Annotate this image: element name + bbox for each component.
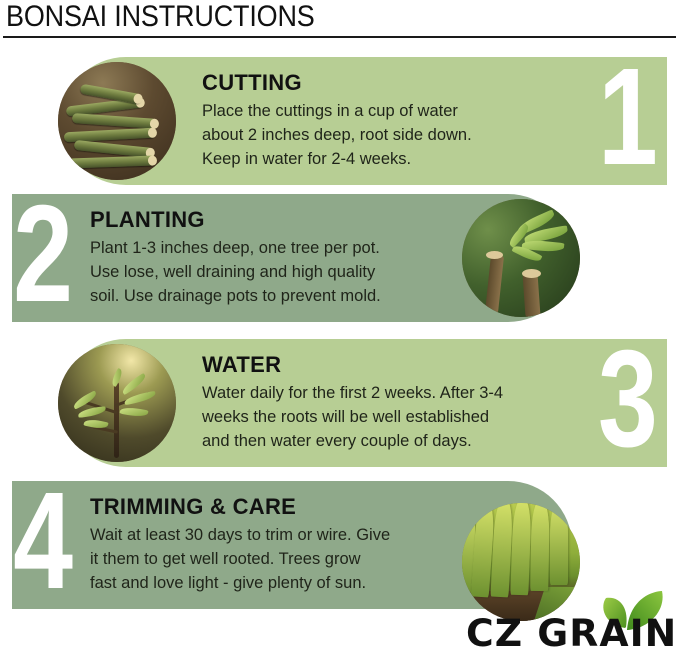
step-content-2: PLANTING Plant 1-3 inches deep, one tree… <box>90 206 510 308</box>
photo-image <box>58 344 176 462</box>
logo-text: CZ GRAIN <box>466 614 677 654</box>
header: BONSAI INSTRUCTIONS <box>0 0 679 44</box>
step-content-1: CUTTING Place the cuttings in a cup of w… <box>202 69 642 171</box>
step-body-4: Wait at least 30 days to trim or wire. G… <box>90 523 520 595</box>
step-panel-1: 1 CUTTING Place the cuttings in a cup of… <box>62 57 667 185</box>
step-number-4: 4 <box>8 477 78 605</box>
step-heading-1: CUTTING <box>202 69 642 97</box>
title-divider <box>3 36 676 38</box>
photo-image <box>58 62 176 180</box>
step-number-2: 2 <box>8 190 78 318</box>
step-heading-4: TRIMMING & CARE <box>90 493 520 521</box>
step-body-1: Place the cuttings in a cup of water abo… <box>202 99 642 171</box>
step-panel-4: 4 TRIMMING & CARE Wait at least 30 days … <box>12 481 572 609</box>
step-body-3: Water daily for the first 2 weeks. After… <box>202 381 652 453</box>
cuttings-bundle-photo <box>58 62 176 180</box>
step-panel-3: 3 WATER Water daily for the first 2 week… <box>62 339 667 467</box>
infographic-page: BONSAI INSTRUCTIONS 1 CUTTING Place the … <box>0 0 679 662</box>
step-panel-2: 2 PLANTING Plant 1-3 inches deep, one tr… <box>12 194 572 322</box>
step-content-4: TRIMMING & CARE Wait at least 30 days to… <box>90 493 520 595</box>
step-heading-2: PLANTING <box>90 206 510 234</box>
page-title: BONSAI INSTRUCTIONS <box>6 0 315 36</box>
brand-logo: CZ GRAIN <box>466 604 671 656</box>
step-heading-3: WATER <box>202 351 652 379</box>
step-body-2: Plant 1-3 inches deep, one tree per pot.… <box>90 236 510 308</box>
step-content-3: WATER Water daily for the first 2 weeks.… <box>202 351 652 453</box>
young-seedling-photo <box>58 344 176 462</box>
